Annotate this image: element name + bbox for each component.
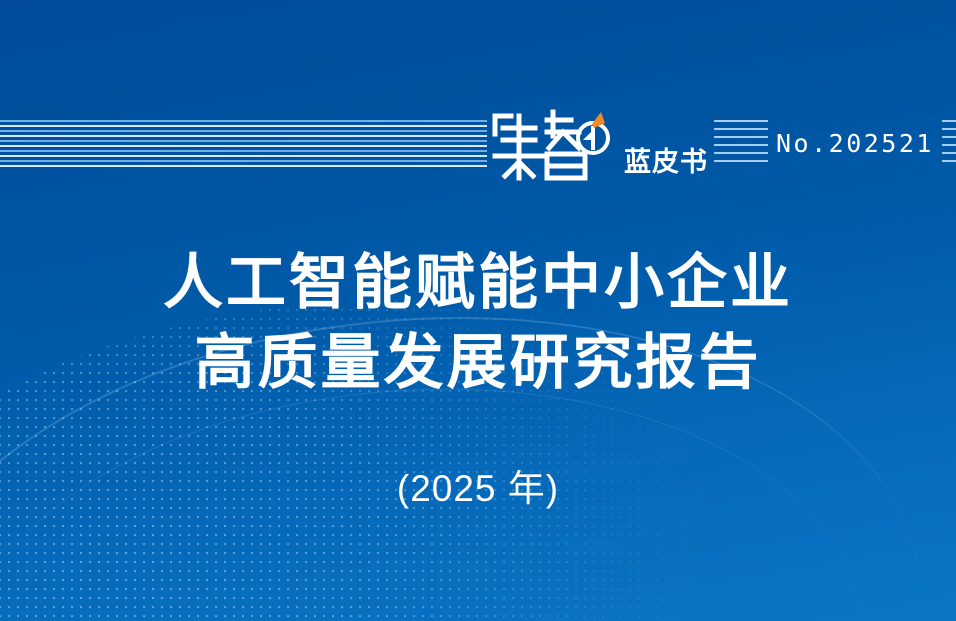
stripe-block-mid <box>714 120 768 168</box>
page-subtitle: (2025 年) <box>0 458 956 512</box>
page-title: 人工智能赋能中小企业 高质量发展研究报告 <box>0 243 956 403</box>
title-line-1: 人工智能赋能中小企业 <box>0 243 956 323</box>
jizhi-logo-mark <box>489 106 617 182</box>
publisher-logo-lockup: 蓝皮书 <box>489 106 708 182</box>
cover-header-band: 蓝皮书 No.202521 <box>0 108 956 180</box>
series-label: 蓝皮书 <box>624 149 708 182</box>
title-line-2: 高质量发展研究报告 <box>0 323 956 403</box>
report-cover: 蓝皮书 No.202521 人工智能赋能中小企业 高质量发展研究报告 (2025… <box>0 0 956 621</box>
issue-number: No.202521 <box>776 131 934 158</box>
stripe-field-left <box>0 120 487 170</box>
stripe-block-right <box>942 120 956 168</box>
